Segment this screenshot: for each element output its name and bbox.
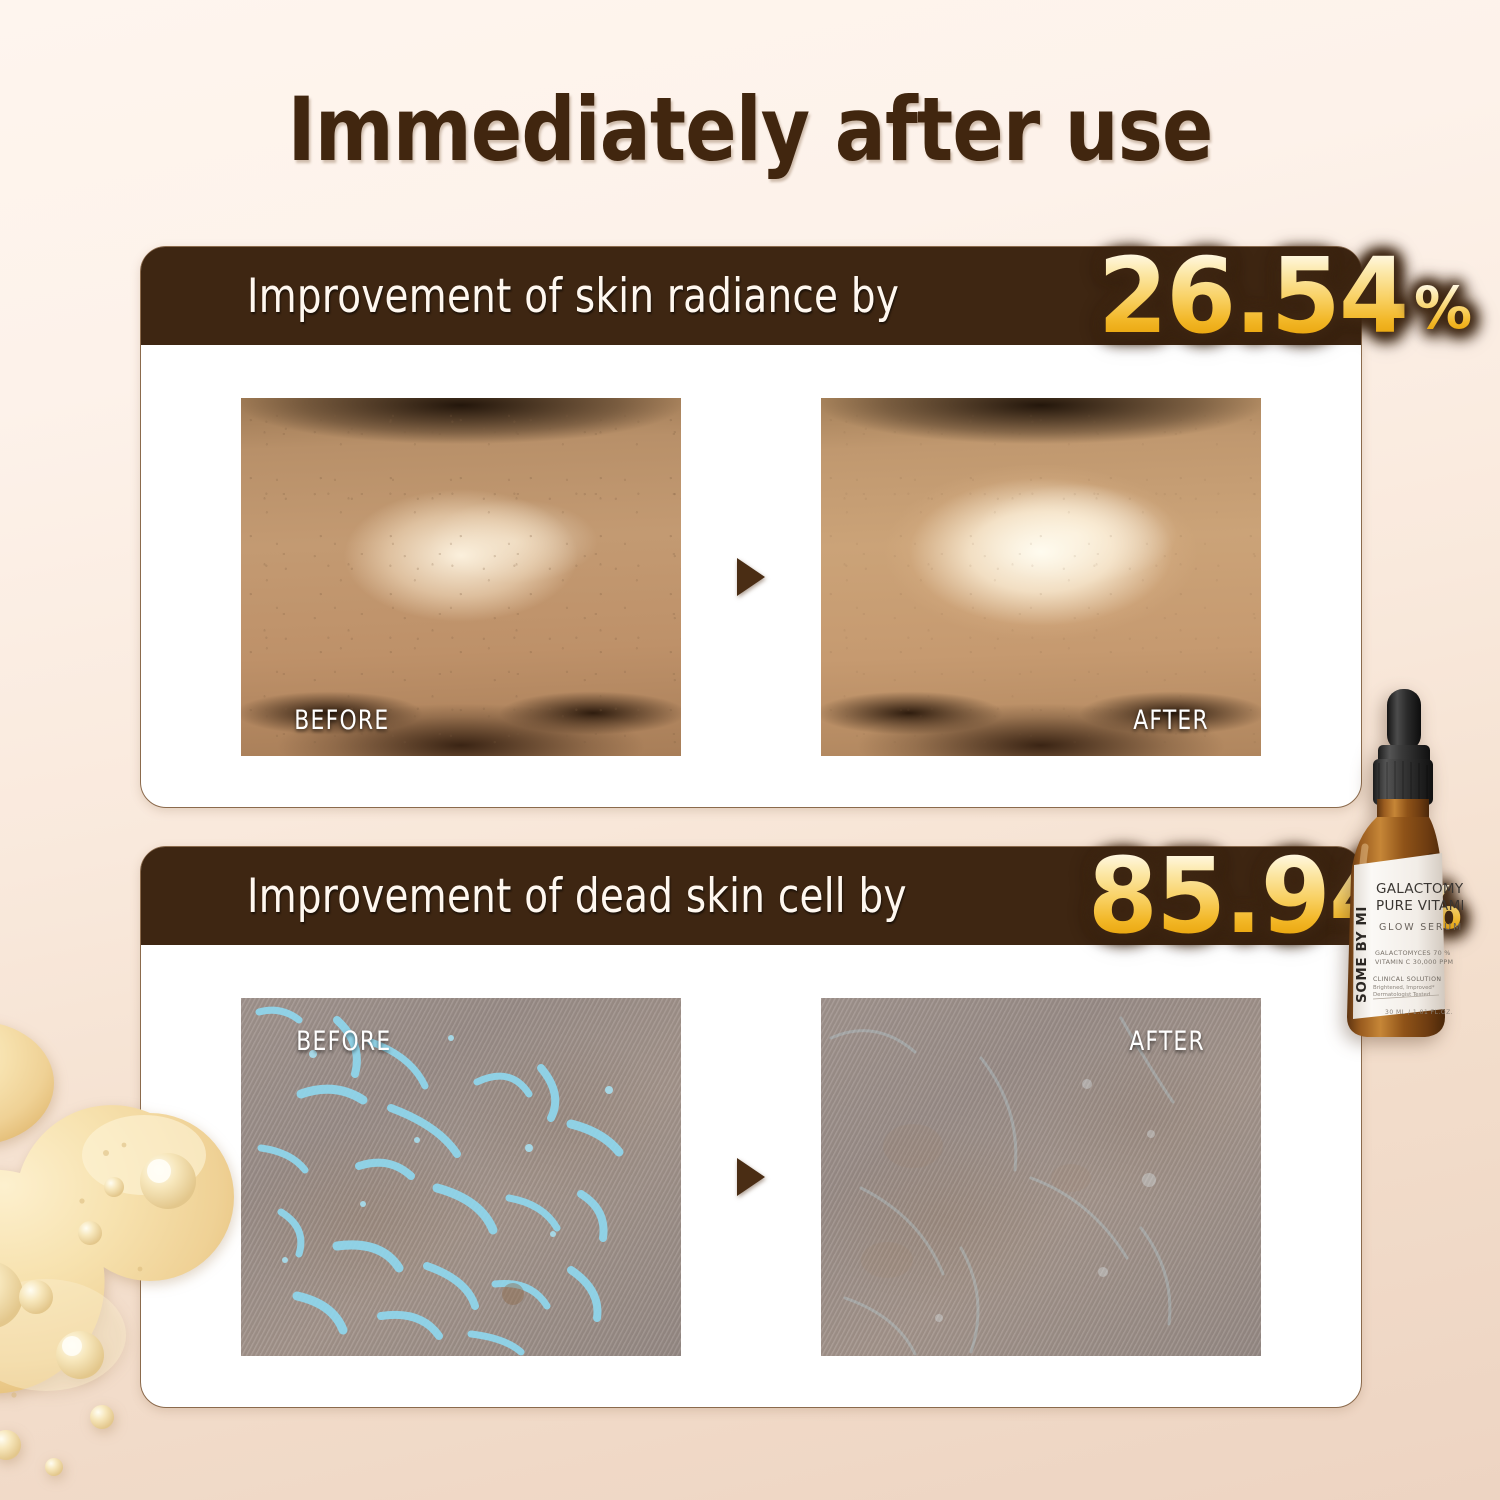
panel-skin-radiance: Improvement of skin radiance by 26.54 % …: [140, 246, 1362, 808]
product-brand-text: SOME BY MI: [1354, 906, 1370, 1003]
product-ingredient-line2: VITAMIN C 30,000 PPM: [1375, 958, 1453, 966]
panel-headline-skin-radiance: Improvement of skin radiance by: [247, 269, 899, 324]
stat-value-skin-radiance: 26.54: [1098, 254, 1407, 339]
panel-body-skin-radiance: BEFORE AFTER: [141, 345, 1361, 809]
serum-bottle-svg: SOME BY MI GALACTOMYCES PURE VITAMIN C G…: [1321, 687, 1463, 1039]
panel-dead-skin-cell: Improvement of dead skin cell by 85.94 %: [140, 846, 1362, 1408]
product-claim-title: CLINICAL SOLUTION: [1373, 976, 1441, 983]
after-label-skin-radiance: AFTER: [1133, 705, 1209, 736]
arrow-right-icon: [737, 1158, 765, 1196]
before-label-dead-skin-cell: BEFORE: [296, 1026, 391, 1057]
panel-headline-dead-skin-cell: Improvement of dead skin cell by: [247, 869, 907, 924]
after-label-dead-skin-cell: AFTER: [1129, 1026, 1205, 1057]
product-claim-line1: Brightened, Improved*: [1373, 985, 1435, 991]
infographic-root: Immediately after use Improvement of ski…: [0, 0, 1500, 1500]
product-name-line2: PURE VITAMIN C: [1376, 898, 1463, 914]
product-volume: 30 ML / 1.01 FL.OZ.: [1385, 1009, 1453, 1016]
arrow-right-icon: [737, 558, 765, 596]
product-name-line1: GALACTOMYCES: [1376, 881, 1463, 897]
product-name-line3: GLOW SERUM: [1379, 922, 1463, 933]
product-ingredient-line1: GALACTOMYCES 70 %: [1375, 949, 1451, 957]
panel-header-skin-radiance: Improvement of skin radiance by 26.54 %: [141, 247, 1361, 345]
before-image-dead-skin-cell: BEFORE: [241, 998, 681, 1356]
page-title: Immediately after use: [105, 78, 1395, 181]
after-image-dead-skin-cell: AFTER: [821, 998, 1261, 1356]
before-label-skin-radiance: BEFORE: [294, 705, 389, 736]
panel-header-dead-skin-cell: Improvement of dead skin cell by 85.94 %: [141, 847, 1361, 945]
skin-pore-texture: [821, 398, 1261, 756]
after-image-skin-radiance: AFTER: [821, 398, 1261, 756]
product-bottle-image: SOME BY MI GALACTOMYCES PURE VITAMIN C G…: [1321, 687, 1463, 1039]
stat-skin-radiance: 26.54 %: [1093, 254, 1472, 339]
before-image-skin-radiance: BEFORE: [241, 398, 681, 756]
stat-unit-skin-radiance: %: [1414, 285, 1472, 333]
panel-body-dead-skin-cell: BEFORE: [141, 945, 1361, 1409]
skin-pore-texture: [241, 398, 681, 756]
